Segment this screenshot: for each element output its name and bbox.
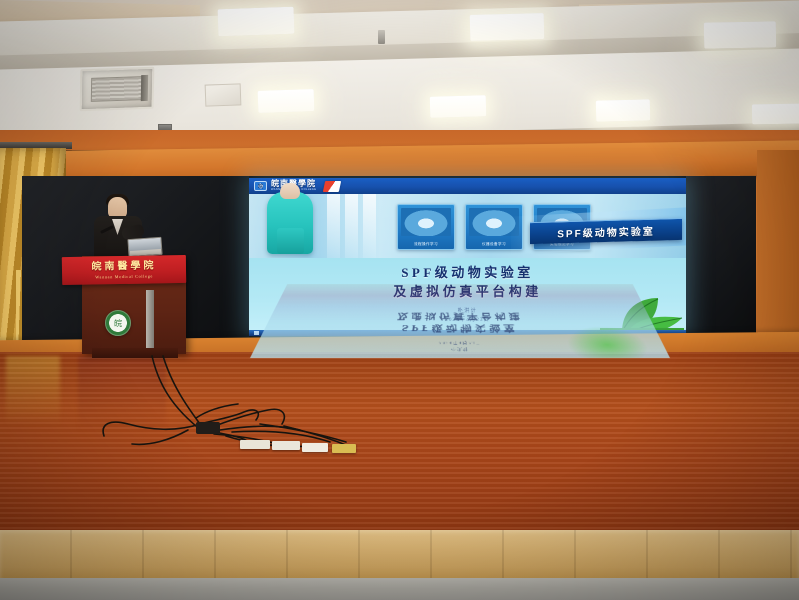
college-seal-emblem-icon: 皖	[105, 310, 131, 336]
podium-base	[92, 348, 178, 358]
power-strip	[332, 444, 356, 453]
ceiling-panel-light	[430, 95, 487, 118]
slide-card: 流程操作学习	[397, 204, 455, 250]
ceiling-panel-light	[470, 13, 545, 41]
lab-technician-figure	[267, 192, 313, 254]
screen-frame-right	[757, 150, 799, 355]
vent-side-slot	[141, 75, 148, 101]
auditorium-floor	[0, 578, 799, 600]
podium-support-pole	[146, 290, 154, 356]
slide-card-label: 仪器设备学习	[466, 243, 522, 247]
slide-spf-banner-text: SPF级动物实验室	[557, 223, 654, 241]
led-panel-dark-right	[686, 176, 756, 340]
reflection-title-line2: 及虚拟仿真平台构建	[268, 309, 651, 321]
slide-title-line1: SPF级动物实验室	[249, 264, 686, 283]
flag-ribbon-icon	[323, 181, 341, 192]
podium-reflection	[78, 356, 166, 432]
slide-card-image	[401, 208, 451, 236]
reflection-leaf-glow	[564, 327, 652, 358]
air-conditioner-vent-icon	[80, 67, 155, 112]
podium-name-en: Wannan Medical College	[95, 273, 153, 279]
stage-front-panel-seams	[0, 530, 799, 580]
college-logo-icon: 皖	[254, 181, 267, 191]
slide-reflection-on-floor: 朴洪计 2024年4月23日 SPF级动物实验室 及虚拟仿真平台构建	[250, 284, 670, 358]
ceiling-access-hatch	[205, 83, 242, 106]
slide-card-label: 实验规范学习	[534, 243, 590, 247]
curtain-reflection	[6, 356, 60, 426]
vent-louvers	[91, 76, 143, 102]
ceiling-panel-light	[218, 7, 295, 37]
lab-background-pillar	[327, 194, 340, 258]
sprinkler-icon	[378, 30, 385, 44]
lab-background-pillar	[345, 194, 358, 258]
power-strip	[272, 441, 300, 450]
ceiling-panel-light	[258, 89, 315, 113]
slide-photo-band: 流程操作学习 仪器设备学习 实验规范学习 SPF级动物实验室	[249, 194, 686, 258]
slide-card-label: 流程操作学习	[398, 243, 454, 247]
power-strip	[240, 440, 270, 449]
lab-background-pillar	[363, 194, 376, 258]
slide-header-bar: 皖 皖南醫學院 WANNAN MEDICAL COLLEGE	[249, 178, 686, 194]
lecture-hall-scene: 皖 皖南醫學院 WANNAN MEDICAL COLLEGE 流程操作学习	[0, 0, 799, 600]
ceiling-panel-light	[752, 104, 799, 125]
podium-name-cn: 皖南醫學院	[91, 261, 156, 272]
laptop-screen	[128, 238, 161, 251]
podium-nameplate: 皖南醫學院 Wannan Medical College	[62, 255, 186, 285]
slide-card: 仪器设备学习	[465, 204, 523, 250]
ceiling-panel-light	[596, 99, 650, 121]
power-strip	[302, 443, 328, 452]
slide-card-image	[469, 208, 519, 236]
slide-spf-banner: SPF级动物实验室	[530, 218, 682, 244]
laptop-on-podium	[127, 237, 162, 257]
ceiling-panel-light	[704, 21, 776, 48]
